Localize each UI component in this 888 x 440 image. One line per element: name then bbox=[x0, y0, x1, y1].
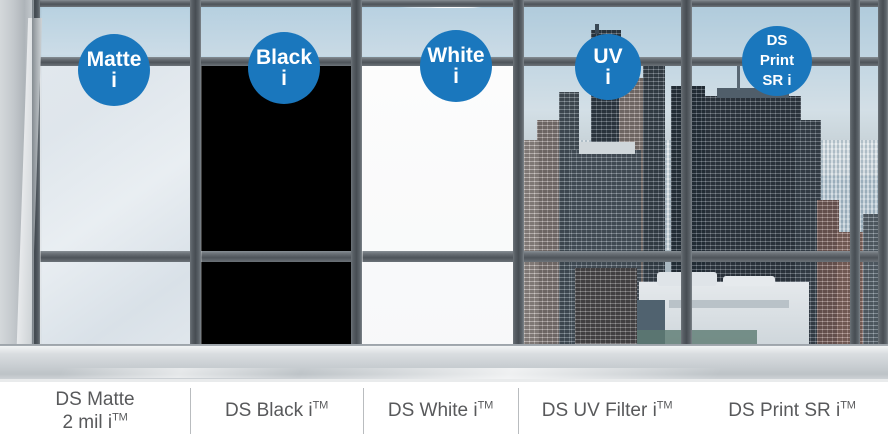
badge-uv-line2: i bbox=[605, 67, 611, 88]
frame-mullion-4 bbox=[681, 0, 692, 370]
panel-black bbox=[197, 63, 355, 360]
badge-uv[interactable]: UV i bbox=[575, 34, 641, 100]
building bbox=[817, 200, 839, 350]
caption-ds-uv-filter-text: DS UV Filter i bbox=[542, 400, 657, 421]
window-photo: Matte i Black i White i UV i DS Print SR… bbox=[0, 0, 888, 382]
antenna bbox=[595, 24, 599, 34]
frame-mid-rail bbox=[30, 251, 888, 262]
caption-row: DS Matte 2 mil iTM DS Black iTM DS White… bbox=[0, 382, 888, 440]
badge-print-sr-line3: SR i bbox=[762, 71, 791, 91]
badge-white[interactable]: White i bbox=[420, 30, 492, 102]
badge-matte-line1: Matte bbox=[87, 49, 142, 70]
bead-highlight bbox=[201, 66, 202, 358]
badge-print-sr-line2: Print bbox=[760, 51, 794, 71]
frame-mullion-5 bbox=[850, 0, 860, 370]
caption-ds-print-sr-text: DS Print SR i bbox=[728, 400, 840, 421]
trademark-symbol: TM bbox=[112, 412, 127, 424]
badge-black-line1: Black bbox=[256, 47, 312, 68]
building bbox=[537, 120, 559, 350]
caption-divider-1 bbox=[190, 388, 191, 434]
frame-mullion-1 bbox=[190, 0, 201, 370]
wall-pillar-shadow bbox=[32, 0, 42, 382]
building bbox=[575, 268, 637, 352]
caption-divider-2 bbox=[363, 388, 364, 434]
badge-black[interactable]: Black i bbox=[248, 32, 320, 104]
caption-divider-3 bbox=[518, 388, 519, 434]
panel-white bbox=[360, 63, 517, 360]
trademark-symbol: TM bbox=[657, 400, 672, 412]
badge-matte[interactable]: Matte i bbox=[78, 34, 150, 106]
caption-ds-white-text: DS White i bbox=[388, 400, 478, 421]
city-skyline-view bbox=[519, 0, 888, 368]
sill-reflection bbox=[58, 368, 303, 378]
caption-ds-matte-line2: 2 mil i bbox=[62, 412, 112, 433]
trademark-symbol: TM bbox=[840, 400, 855, 412]
badge-print-sr-line1: DS bbox=[767, 31, 788, 51]
badge-print-sr[interactable]: DS Print SR i bbox=[742, 26, 812, 96]
caption-ds-white: DS White iTM bbox=[363, 382, 518, 440]
trademark-symbol: TM bbox=[313, 400, 328, 412]
badge-matte-line2: i bbox=[111, 70, 117, 91]
frame-mullion-2 bbox=[351, 0, 362, 370]
film-comparison-graphic: Matte i Black i White i UV i DS Print SR… bbox=[0, 0, 888, 440]
badge-white-line2: i bbox=[453, 66, 459, 87]
caption-ds-matte-line1: DS Matte bbox=[55, 389, 134, 410]
caption-ds-black-text: DS Black i bbox=[225, 400, 313, 421]
trademark-symbol: TM bbox=[478, 400, 493, 412]
rooftop bbox=[579, 142, 635, 154]
caption-ds-uv-filter: DS UV Filter iTM bbox=[518, 382, 696, 440]
badge-black-line2: i bbox=[281, 68, 287, 89]
badge-uv-line1: UV bbox=[593, 46, 622, 67]
caption-ds-matte: DS Matte 2 mil iTM bbox=[0, 382, 190, 440]
bead-highlight bbox=[362, 66, 363, 358]
caption-ds-print-sr: DS Print SR iTM bbox=[696, 382, 888, 440]
frame-mullion-3 bbox=[513, 0, 524, 370]
frame-right-post bbox=[878, 0, 888, 370]
rooftop-unit bbox=[723, 276, 775, 286]
frame-top-rail bbox=[30, 0, 888, 7]
badge-white-line1: White bbox=[427, 45, 484, 66]
caption-ds-black: DS Black iTM bbox=[190, 382, 363, 440]
